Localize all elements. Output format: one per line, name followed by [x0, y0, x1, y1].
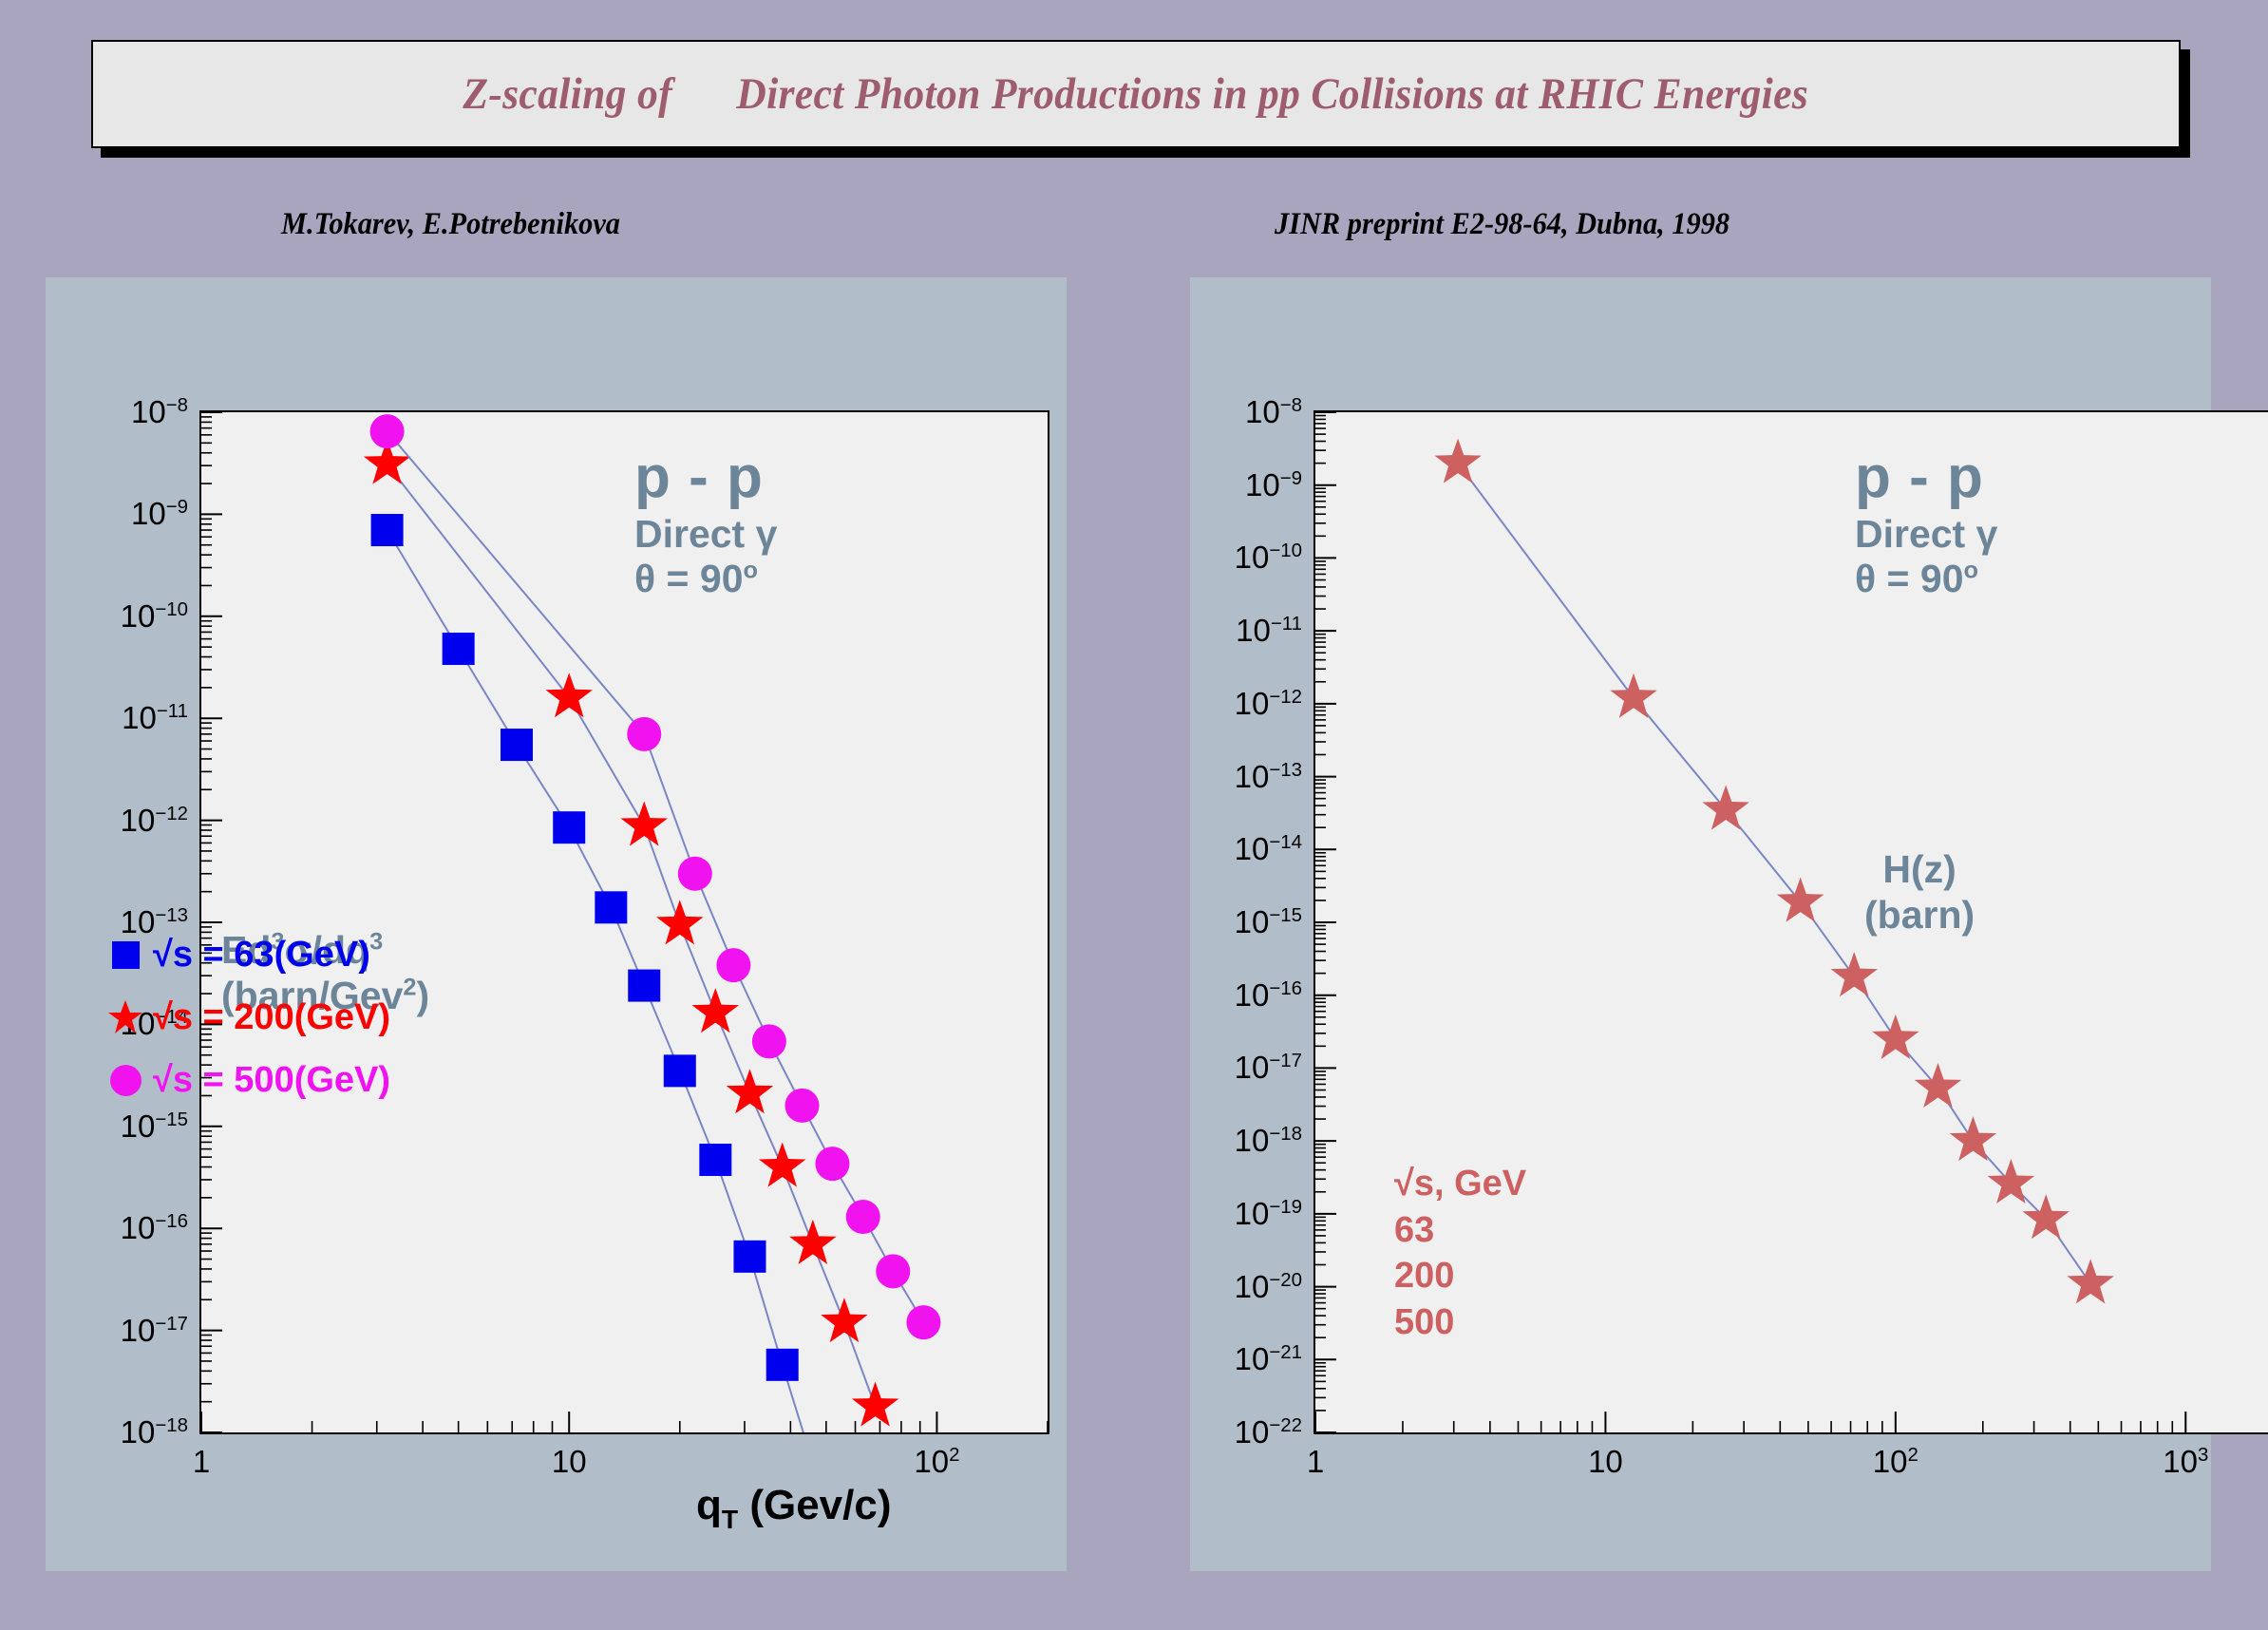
legend-label-500: √s = 500(GeV) — [153, 1060, 390, 1101]
left-xtick-10: 10 — [552, 1444, 587, 1480]
right-ytick-1e-21: 10−21 — [1235, 1341, 1302, 1377]
left-system-label: p - p — [634, 444, 777, 512]
right-ytick-1e-9: 10−9 — [1245, 467, 1302, 503]
right-ytick-1e-19: 10−19 — [1235, 1196, 1302, 1232]
left-plot-frame — [199, 410, 1049, 1434]
left-plot-legend: √s = 63(GeV) √s = 200(GeV) √s = 500(GeV) — [98, 923, 390, 1111]
right-xtick-10: 10 — [1588, 1444, 1623, 1480]
right-ytick-1e-15: 10−15 — [1235, 904, 1302, 940]
page-title: Z-scaling of Direct Photon Productions i… — [463, 68, 1809, 120]
right-system-label: p - p — [1855, 444, 1997, 512]
left-plot-header: p - p Direct γ θ = 90o — [634, 444, 777, 602]
right-ytick-1e-18: 10−18 — [1235, 1123, 1302, 1159]
square-marker-icon — [98, 941, 153, 969]
legend-label-63: √s = 63(GeV) — [153, 935, 370, 976]
right-yaxis-title-line2: (barn) — [1864, 893, 1975, 938]
left-xaxis-title: qT (Gev/c) — [696, 1482, 891, 1535]
right-plot-header: p - p Direct γ θ = 90o — [1855, 444, 1997, 602]
right-xtick-1000: 103 — [2163, 1444, 2208, 1480]
right-probe-label: Direct γ — [1855, 512, 1997, 558]
right-xtick-1: 1 — [1307, 1444, 1324, 1480]
left-ytick-1e-12: 10−12 — [121, 803, 188, 839]
left-ytick-1e-15: 10−15 — [121, 1109, 188, 1145]
legend-item-200[interactable]: √s = 200(GeV) — [98, 986, 390, 1049]
left-angle-label: θ = 90o — [634, 557, 777, 602]
energy-note-value-0: 63 — [1394, 1207, 1526, 1254]
left-ytick-1e-16: 10−16 — [121, 1210, 188, 1246]
preprint-reference: JINR preprint E2-98-64, Dubna, 1998 — [1275, 207, 1729, 242]
right-ytick-1e-12: 10−12 — [1235, 686, 1302, 722]
right-ytick-1e-11: 10−11 — [1236, 613, 1302, 649]
legend-item-500[interactable]: √s = 500(GeV) — [98, 1049, 390, 1111]
right-ytick-1e-17: 10−17 — [1235, 1050, 1302, 1086]
authors-line: M.Tokarev, E.Potrebenikova — [281, 207, 620, 242]
right-ytick-1e-22: 10−22 — [1235, 1414, 1302, 1450]
left-ytick-1e-18: 10−18 — [121, 1414, 188, 1450]
left-xtick-1: 1 — [193, 1444, 210, 1480]
left-ytick-1e-17: 10−17 — [121, 1313, 188, 1349]
right-ytick-1e-8: 10−8 — [1245, 394, 1302, 430]
legend-label-200: √s = 200(GeV) — [153, 997, 390, 1038]
left-xtick-100: 102 — [914, 1444, 959, 1480]
slide-title-banner: Z-scaling of Direct Photon Productions i… — [91, 40, 2181, 148]
left-ytick-1e-8: 10−8 — [131, 394, 188, 430]
left-ytick-1e-11: 10−11 — [122, 700, 188, 736]
right-yaxis-title-line1: H(z) — [1864, 847, 1975, 893]
right-ytick-1e-20: 10−20 — [1235, 1269, 1302, 1305]
right-yaxis-title: H(z) (barn) — [1864, 847, 1975, 938]
right-energy-note: √s, GeV 63 200 500 — [1394, 1161, 1526, 1346]
right-angle-label: θ = 90o — [1855, 557, 1997, 602]
right-ytick-1e-16: 10−16 — [1235, 977, 1302, 1014]
circle-marker-icon — [98, 1065, 153, 1096]
right-xtick-100: 102 — [1873, 1444, 1918, 1480]
left-plot-canvas — [201, 412, 1048, 1432]
star-marker-icon — [98, 998, 153, 1036]
right-figure-panel: 10−2210−2110−2010−1910−1810−1710−1610−15… — [1190, 277, 2211, 1571]
right-ytick-1e-14: 10−14 — [1235, 831, 1302, 867]
left-figure-panel: 10−1810−1710−1610−1510−1410−1310−1210−11… — [46, 277, 1067, 1571]
right-ytick-1e-13: 10−13 — [1235, 759, 1302, 795]
left-ytick-1e-9: 10−9 — [131, 496, 188, 532]
left-probe-label: Direct γ — [634, 512, 777, 558]
legend-item-63[interactable]: √s = 63(GeV) — [98, 923, 390, 986]
energy-note-value-2: 500 — [1394, 1299, 1526, 1346]
right-ytick-1e-10: 10−10 — [1235, 540, 1302, 576]
energy-note-header: √s, GeV — [1394, 1161, 1526, 1207]
energy-note-value-1: 200 — [1394, 1253, 1526, 1299]
left-ytick-1e-10: 10−10 — [121, 598, 188, 635]
